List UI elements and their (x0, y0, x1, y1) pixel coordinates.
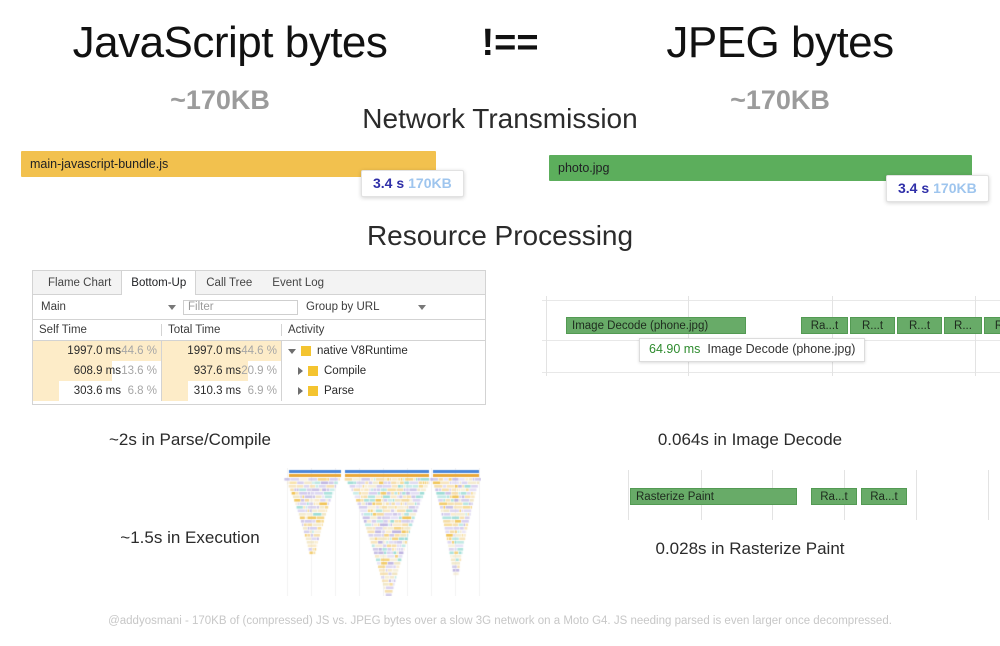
caption-parse-compile: ~2s in Parse/Compile (60, 430, 320, 450)
caption-execution: ~1.5s in Execution (60, 528, 320, 548)
timeline-bar-label: R...t (909, 320, 930, 332)
tab-call-tree[interactable]: Call Tree (196, 271, 262, 294)
activity-label: Parse (324, 385, 354, 397)
cell-total-time: 310.3 ms 6.9 % (161, 381, 281, 401)
self-time-ms: 608.9 ms (74, 365, 121, 377)
table-row[interactable]: 1997.0 ms 44.6 % 1997.0 ms 44.6 % native… (33, 341, 485, 361)
thread-select-value: Main (41, 301, 66, 313)
total-time-ms: 1997.0 ms (187, 345, 241, 357)
filter-placeholder: Filter (188, 301, 214, 313)
decode-tooltip-time: 64.90 ms (649, 342, 700, 356)
cell-activity: Compile (281, 361, 485, 381)
triangle-down-icon[interactable] (288, 349, 296, 354)
footer-attribution: @addyosmani - 170KB of (compressed) JS v… (0, 615, 1000, 627)
cell-activity: Parse (281, 381, 485, 401)
cell-total-time: 1997.0 ms 44.6 % (161, 341, 281, 361)
waterfall-time-javascript: 3.4 s (373, 175, 404, 191)
devtools-bottom-up-panel: Flame Chart Bottom-Up Call Tree Event Lo… (32, 270, 486, 405)
column-header-total-time[interactable]: Total Time (161, 324, 281, 336)
self-time-pct: 13.6 % (121, 365, 157, 377)
cell-activity: native V8Runtime (281, 341, 485, 361)
total-time-ms: 937.6 ms (194, 365, 241, 377)
category-color-swatch (308, 386, 318, 396)
self-time-pct: 6.8 % (121, 385, 157, 397)
activity-label: Compile (324, 365, 366, 377)
activity-label: native V8Runtime (317, 345, 408, 357)
timeline-bar-label: R (995, 320, 1000, 332)
waterfall-size-jpeg: 170KB (933, 180, 977, 196)
total-time-ms: 310.3 ms (194, 385, 241, 397)
thread-select[interactable]: Main (33, 295, 183, 319)
timeline-bar-label: Ra...t (820, 491, 847, 503)
timeline-bar-raster-1[interactable]: Ra...t (801, 317, 848, 334)
table-row[interactable]: 303.6 ms 6.8 % 310.3 ms 6.9 % Parse (33, 381, 485, 401)
self-time-ms: 1997.0 ms (67, 345, 121, 357)
timeline-bar-rasterize-small-2[interactable]: Ra...t (861, 488, 907, 505)
total-time-pct: 44.6 % (241, 345, 277, 357)
total-time-pct: 6.9 % (241, 385, 277, 397)
cell-self-time: 608.9 ms 13.6 % (33, 361, 161, 381)
self-time-ms: 303.6 ms (74, 385, 121, 397)
timeline-bar-rasterize-paint[interactable]: Rasterize Paint (630, 488, 797, 505)
chevron-down-icon (168, 305, 176, 310)
category-color-swatch (301, 346, 311, 356)
waterfall-tooltip-jpeg: 3.4 s170KB (886, 175, 989, 202)
group-by-select-value: Group by URL (306, 301, 380, 313)
category-color-swatch (308, 366, 318, 376)
tab-event-log[interactable]: Event Log (262, 271, 334, 294)
decode-tooltip-label: Image Decode (phone.jpg) (707, 342, 855, 356)
headline-javascript: JavaScript bytes (0, 18, 460, 68)
timeline-bar-label: Ra...t (870, 491, 897, 503)
waterfall-tooltip-javascript: 3.4 s170KB (361, 170, 464, 197)
cell-total-time: 937.6 ms 20.9 % (161, 361, 281, 381)
flame-chart-thumbnails[interactable] (283, 468, 481, 596)
timeline-bar-label: R...t (862, 320, 883, 332)
headline-operator: !== (440, 22, 580, 65)
timeline-bar-raster-4[interactable]: R... (944, 317, 982, 334)
column-header-self-time[interactable]: Self Time (33, 324, 161, 336)
group-by-select[interactable]: Group by URL (298, 295, 433, 319)
filter-input[interactable]: Filter (183, 300, 298, 315)
flame-chart-canvas (283, 468, 481, 596)
waterfall-label-javascript: main-javascript-bundle.js (30, 157, 168, 171)
timeline-bar-rasterize-small-1[interactable]: Ra...t (811, 488, 857, 505)
devtools-tabbar: Flame Chart Bottom-Up Call Tree Event Lo… (33, 271, 485, 295)
timeline-bar-label: Image Decode (phone.jpg) (572, 320, 708, 332)
tab-flame-chart[interactable]: Flame Chart (38, 271, 121, 294)
section-heading-processing: Resource Processing (0, 220, 1000, 252)
waterfall-label-jpeg: photo.jpg (558, 161, 609, 175)
timeline-bar-label: Ra...t (811, 320, 838, 332)
devtools-table-header: Self Time Total Time Activity (33, 320, 485, 341)
triangle-right-icon[interactable] (298, 367, 303, 375)
rasterize-paint-timeline: Rasterize Paint Ra...t Ra...t (612, 470, 1000, 520)
timeline-bar-raster-3[interactable]: R...t (897, 317, 942, 334)
headline-jpeg: JPEG bytes (560, 18, 1000, 68)
timeline-bar-image-decode[interactable]: Image Decode (phone.jpg) (566, 317, 746, 334)
timeline-bar-raster-2[interactable]: R...t (850, 317, 895, 334)
caption-rasterize-paint: 0.028s in Rasterize Paint (600, 539, 900, 559)
triangle-right-icon[interactable] (298, 387, 303, 395)
timeline-bar-label: R... (954, 320, 972, 332)
table-row[interactable]: 608.9 ms 13.6 % 937.6 ms 20.9 % Compile (33, 361, 485, 381)
section-heading-network: Network Transmission (0, 103, 1000, 135)
self-time-pct: 44.6 % (121, 345, 157, 357)
cell-self-time: 303.6 ms 6.8 % (33, 381, 161, 401)
waterfall-size-javascript: 170KB (408, 175, 452, 191)
timeline-bar-raster-5[interactable]: R (984, 317, 1000, 334)
timeline-bar-label: Rasterize Paint (636, 491, 714, 503)
image-decode-timeline: Image Decode (phone.jpg) Ra...t R...t R.… (542, 296, 1000, 376)
chevron-down-icon (418, 305, 426, 310)
tab-bottom-up[interactable]: Bottom-Up (121, 271, 196, 295)
cell-self-time: 1997.0 ms 44.6 % (33, 341, 161, 361)
total-time-pct: 20.9 % (241, 365, 277, 377)
column-header-activity[interactable]: Activity (281, 324, 485, 336)
caption-image-decode: 0.064s in Image Decode (600, 430, 900, 450)
waterfall-time-jpeg: 3.4 s (898, 180, 929, 196)
devtools-toolbar: Main Filter Group by URL (33, 295, 485, 320)
image-decode-tooltip: 64.90 msImage Decode (phone.jpg) (639, 338, 865, 362)
